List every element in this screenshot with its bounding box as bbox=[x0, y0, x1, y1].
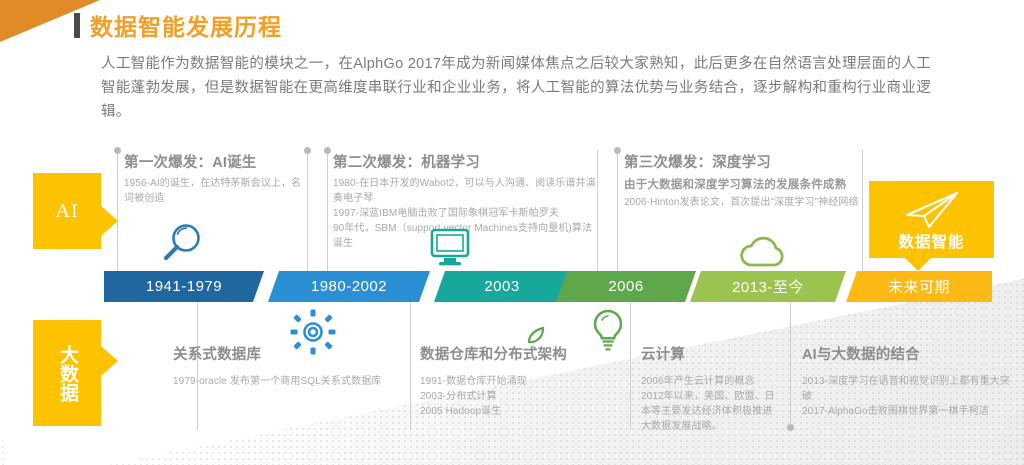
connector-dot bbox=[787, 424, 794, 431]
connector-dot bbox=[614, 147, 621, 154]
bottom-item-line: 2017-AlphaGo击败围棋世界第一棋手柯洁 bbox=[802, 404, 1017, 419]
paper-plane-icon bbox=[903, 189, 961, 236]
timeline-segment-label: 2013-至今 bbox=[732, 276, 804, 297]
timeline-segment-label: 1980-2002 bbox=[311, 278, 387, 295]
timeline-segment-future[interactable]: 未来可期 bbox=[846, 271, 992, 302]
bottom-item-line: 1991-数据仓库开始涌现 bbox=[420, 374, 635, 389]
bottom-item-line: 2012年以来，美国、欧盟、日本等主要发达经济体积极推进大数据发展战略。 bbox=[641, 389, 781, 434]
top-item-lines: 2006-Hinton发表论文，首次提出"深度学习"神经网络 bbox=[624, 195, 874, 210]
top-item-line: 1980-在日本开发的Wabot2，可以与人沟通、阅读乐谱并演奏电子琴 bbox=[333, 176, 601, 206]
bottom-item-line: 2013-深度学习在语音和视觉识别上都有重大突破 bbox=[802, 374, 1017, 404]
timeline-segment-label: 2006 bbox=[608, 278, 643, 295]
side-tab-big-data-arrow bbox=[101, 346, 118, 376]
bottom-item-lines: 2013-深度学习在语音和视觉识别上都有重大突破 2017-AlphaGo击败围… bbox=[802, 374, 1017, 419]
top-item-line: 1956-AI的诞生，在达特茅斯会议上，名词被创造 bbox=[124, 176, 309, 206]
bottom-item-lines: 1991-数据仓库开始涌现 2003-分布式计算 2005 Hadoop诞生 bbox=[420, 374, 635, 419]
bottom-item-lines: 2006年产生云计算的概念 2012年以来，美国、欧盟、日本等主要发达经济体积极… bbox=[641, 374, 781, 434]
connector-line bbox=[790, 302, 791, 430]
top-item-deep-learning: 第三次爆发：深度学习 由于大数据和深度学习算法的发展条件成熟 2006-Hint… bbox=[624, 151, 874, 210]
top-item-subtitle: 由于大数据和深度学习算法的发展条件成熟 bbox=[624, 176, 874, 192]
connector-line bbox=[410, 302, 411, 430]
callout-pointer bbox=[905, 258, 931, 271]
title-accent-bar bbox=[74, 13, 80, 38]
monitor-icon bbox=[428, 227, 472, 274]
side-tab-ai-arrow bbox=[101, 206, 118, 236]
top-item-title: 第二次爆发：机器学习 bbox=[333, 151, 601, 172]
bottom-item-line: 2005 Hadoop诞生 bbox=[420, 404, 635, 419]
timeline-segment-label: 2003 bbox=[484, 278, 519, 295]
bottom-item-cloud-computing: 云计算 2006年产生云计算的概念 2012年以来，美国、欧盟、日本等主要发达经… bbox=[641, 343, 781, 434]
connector-line bbox=[327, 150, 328, 272]
bottom-item-title: 关系式数据库 bbox=[173, 343, 398, 364]
bottom-item-title: 云计算 bbox=[641, 343, 781, 364]
connector-line bbox=[617, 150, 618, 272]
cloud-icon bbox=[738, 231, 792, 276]
page-title: 数据智能发展历程 bbox=[90, 8, 282, 42]
timeline-segment-2003[interactable]: 2003 bbox=[434, 271, 570, 302]
bottom-item-title: AI与大数据的结合 bbox=[802, 343, 1017, 364]
top-item-lines: 1956-AI的诞生，在达特茅斯会议上，名词被创造 bbox=[124, 176, 309, 206]
top-item-title: 第三次爆发：深度学习 bbox=[624, 151, 874, 172]
top-item-title: 第一次爆发：AI诞生 bbox=[124, 151, 309, 172]
page-header: 数据智能发展历程 bbox=[74, 8, 282, 42]
side-tab-big-data[interactable]: 大数据 bbox=[33, 320, 101, 426]
top-item-ai-birth: 第一次爆发：AI诞生 1956-AI的诞生，在达特茅斯会议上，名词被创造 bbox=[124, 151, 309, 206]
timeline-segment-1980-2002[interactable]: 1980-2002 bbox=[268, 271, 430, 302]
side-tab-ai[interactable]: AI bbox=[33, 173, 101, 249]
bottom-item-lines: 1979-oracle 发布第一个商用SQL关系式数据库 bbox=[173, 374, 398, 389]
callout-data-intelligence[interactable]: 数据智能 bbox=[869, 181, 994, 258]
bottom-item-line: 1979-oracle 发布第一个商用SQL关系式数据库 bbox=[173, 374, 398, 389]
top-item-line: 2006-Hinton发表论文，首次提出"深度学习"神经网络 bbox=[624, 195, 874, 210]
intro-paragraph: 人工智能作为数据智能的模块之一，在AlphGo 2017年成为新闻媒体焦点之后较… bbox=[101, 52, 931, 124]
side-tab-big-data-body: 大数据 bbox=[33, 320, 101, 426]
timeline-segment-label: 未来可期 bbox=[888, 276, 950, 297]
side-tab-ai-label: AI bbox=[55, 200, 78, 223]
slide-canvas: 数据智能发展历程 人工智能作为数据智能的模块之一，在AlphGo 2017年成为… bbox=[0, 0, 1024, 465]
connector-dot bbox=[324, 147, 331, 154]
magnifier-icon bbox=[156, 218, 208, 275]
side-tab-ai-body: AI bbox=[33, 173, 101, 249]
top-item-line: 1997-深蓝IBM电脑击败了国际象棋冠军卡斯帕罗夫 bbox=[333, 206, 601, 221]
callout-box: 数据智能 bbox=[869, 181, 994, 258]
side-tab-big-data-label: 大数据 bbox=[55, 345, 79, 402]
bulb-icon bbox=[588, 307, 628, 360]
connector-dot bbox=[114, 147, 121, 154]
timeline-segment-2006[interactable]: 2006 bbox=[556, 271, 696, 302]
bottom-item-ai-bigdata: AI与大数据的结合 2013-深度学习在语音和视觉识别上都有重大突破 2017-… bbox=[802, 343, 1017, 419]
bottom-item-line: 2006年产生云计算的概念 bbox=[641, 374, 781, 389]
bottom-item-relational-db: 关系式数据库 1979-oracle 发布第一个商用SQL关系式数据库 bbox=[173, 343, 398, 389]
timeline-segment-1941-1979[interactable]: 1941-1979 bbox=[104, 271, 264, 302]
bottom-item-line: 2003-分布式计算 bbox=[420, 389, 635, 404]
timeline-segment-label: 1941-1979 bbox=[146, 278, 222, 295]
